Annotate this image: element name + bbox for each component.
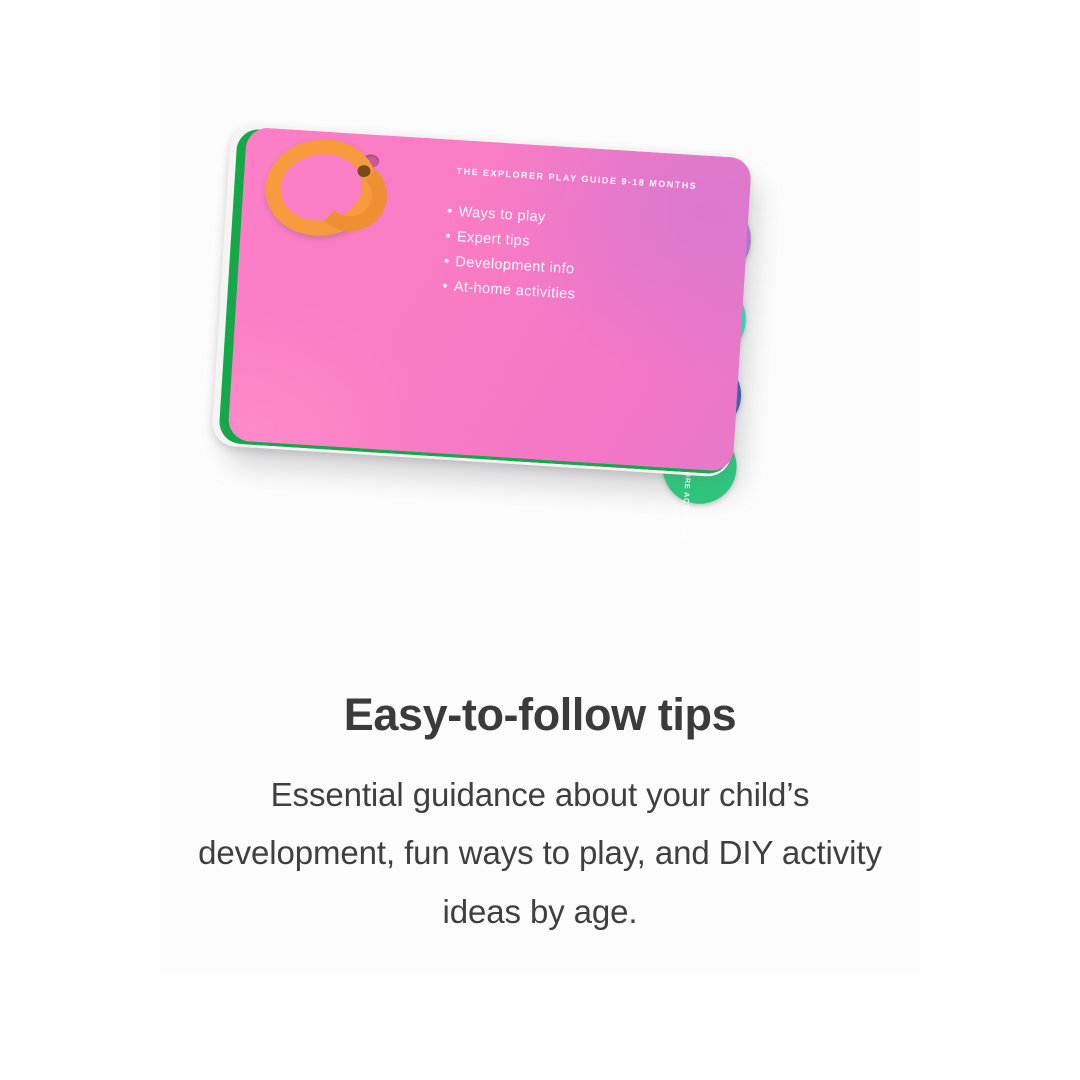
list-item: Ways to play bbox=[446, 201, 580, 230]
card-bullet-list: Ways to play Expert tips Development inf… bbox=[441, 201, 580, 309]
page-subcopy: Essential guidance about your child’s de… bbox=[190, 766, 890, 942]
text-block: Easy-to-follow tips Essential guidance a… bbox=[160, 690, 920, 942]
page-root: FOR YOU WAYS TO PLAY THE PLAY EXPERT MOR… bbox=[0, 0, 1080, 1080]
list-item: Development info bbox=[443, 251, 577, 280]
list-item: Expert tips bbox=[445, 226, 579, 255]
product-image: FOR YOU WAYS TO PLAY THE PLAY EXPERT MOR… bbox=[160, 60, 920, 650]
page-title: Easy-to-follow tips bbox=[160, 690, 920, 740]
card-eyebrow-text: THE EXPLORER PLAY GUIDE 9-18 MONTHS bbox=[456, 166, 697, 191]
flashcard-stack: FOR YOU WAYS TO PLAY THE PLAY EXPERT MOR… bbox=[210, 124, 760, 497]
list-item: At-home activities bbox=[442, 276, 576, 305]
divider-tab-label: MORE ACTIVITIES bbox=[679, 464, 693, 550]
binder-ring-front-arc bbox=[313, 159, 388, 232]
